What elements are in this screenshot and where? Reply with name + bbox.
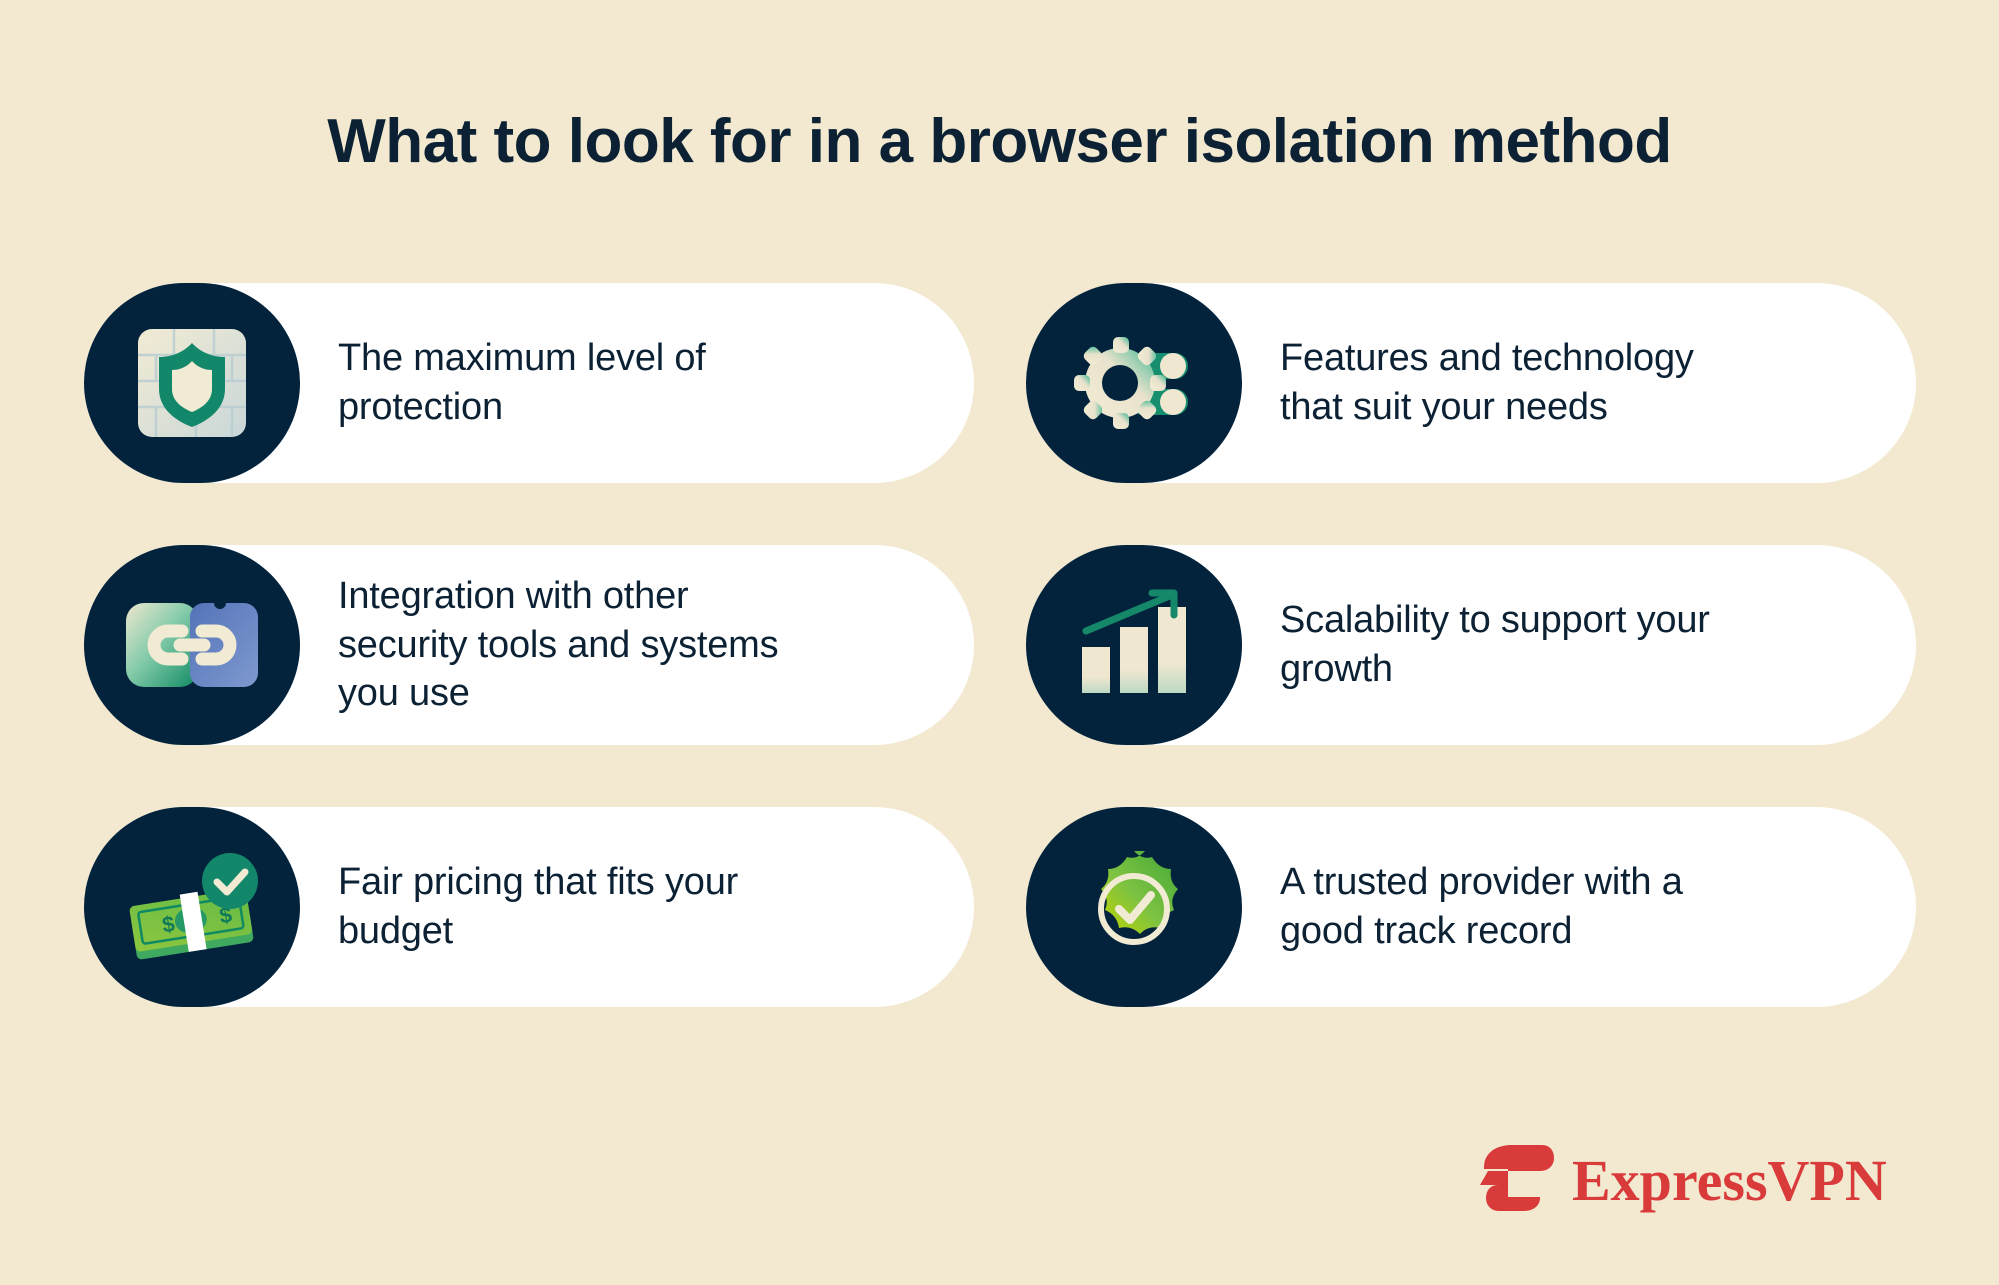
money-check-icon: $ $ <box>122 849 262 965</box>
icon-badge <box>84 545 300 745</box>
feature-card-fair-pricing: $ $ Fair pricing that fits your budget <box>84 807 974 1007</box>
expressvpn-e-mark-icon <box>1478 1143 1554 1218</box>
gear-settings-icon <box>1072 327 1196 439</box>
feature-card-features-technology: Features and technology that suit your n… <box>1026 283 1916 483</box>
icon-badge: $ $ <box>84 807 300 1007</box>
expressvpn-logo: ExpressVPN <box>1478 1143 1887 1218</box>
feature-card-label: Features and technology that suit your n… <box>1242 334 1740 431</box>
feature-card-label: A trusted provider with a good track rec… <box>1242 858 1770 955</box>
expressvpn-wordmark: ExpressVPN <box>1572 1152 1887 1210</box>
page-title: What to look for in a browser isolation … <box>0 108 1999 176</box>
feature-card-grid: The maximum level of protection <box>84 283 1916 1007</box>
growth-chart-icon <box>1074 589 1194 701</box>
feature-card-trusted-provider: A trusted provider with a good track rec… <box>1026 807 1916 1007</box>
feature-card-label: The maximum level of protection <box>300 334 798 431</box>
feature-card-label: Scalability to support your growth <box>1242 596 1760 693</box>
infographic-page: What to look for in a browser isolation … <box>0 0 1999 1285</box>
feature-card-maximum-protection: The maximum level of protection <box>84 283 974 483</box>
feature-card-scalability: Scalability to support your growth <box>1026 545 1916 745</box>
shield-firewall-icon <box>132 323 252 443</box>
verified-badge-icon <box>1074 847 1194 967</box>
feature-card-label: Integration with other security tools an… <box>300 572 848 718</box>
feature-card-integration: Integration with other security tools an… <box>84 545 974 745</box>
icon-badge <box>1026 545 1242 745</box>
icon-badge <box>1026 807 1242 1007</box>
chain-link-icon <box>122 593 262 697</box>
feature-card-label: Fair pricing that fits your budget <box>300 858 808 955</box>
icon-badge <box>84 283 300 483</box>
icon-badge <box>1026 283 1242 483</box>
